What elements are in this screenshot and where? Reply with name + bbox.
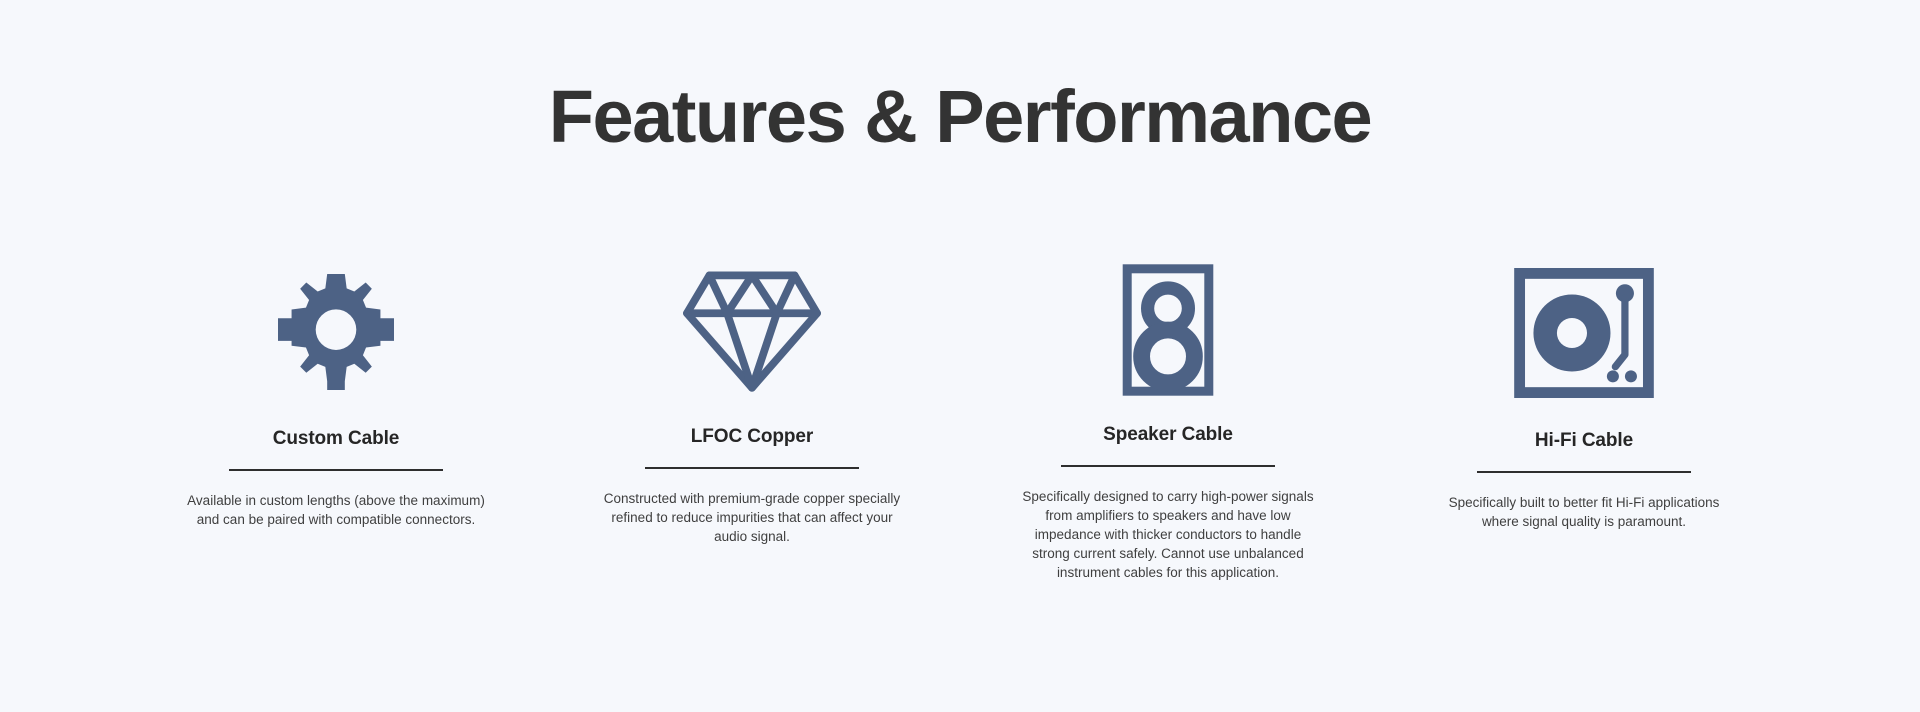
features-performance-section: Features & Performance Custom Cable Avai… (0, 0, 1920, 712)
feature-description: Available in custom lengths (above the m… (186, 491, 486, 529)
feature-divider (1477, 471, 1691, 473)
feature-card-lfoc-copper: LFOC Copper Constructed with premium-gra… (544, 256, 960, 546)
feature-card-custom-cable: Custom Cable Available in custom lengths… (128, 257, 544, 529)
feature-description: Specifically built to better fit Hi-Fi a… (1434, 493, 1734, 531)
gear-icon (278, 257, 394, 407)
feature-card-speaker-cable: Speaker Cable Specifically designed to c… (960, 255, 1376, 582)
feature-description: Constructed with premium-grade copper sp… (602, 489, 902, 546)
turntable-icon (1514, 258, 1654, 408)
feature-title: Speaker Cable (1103, 423, 1233, 447)
feature-card-hifi-cable: Hi-Fi Cable Specifically built to better… (1376, 258, 1792, 531)
feature-title: LFOC Copper (691, 425, 813, 449)
feature-title: Custom Cable (273, 427, 400, 451)
feature-divider (229, 469, 443, 471)
feature-title: Hi-Fi Cable (1535, 429, 1633, 453)
feature-divider (1061, 465, 1275, 467)
feature-description: Specifically designed to carry high-powe… (1018, 487, 1318, 582)
feature-divider (645, 467, 859, 469)
speaker-icon (1122, 255, 1214, 405)
diamond-icon (681, 256, 823, 406)
feature-list: Custom Cable Available in custom lengths… (128, 255, 1792, 582)
page-title: Features & Performance (0, 78, 1920, 156)
